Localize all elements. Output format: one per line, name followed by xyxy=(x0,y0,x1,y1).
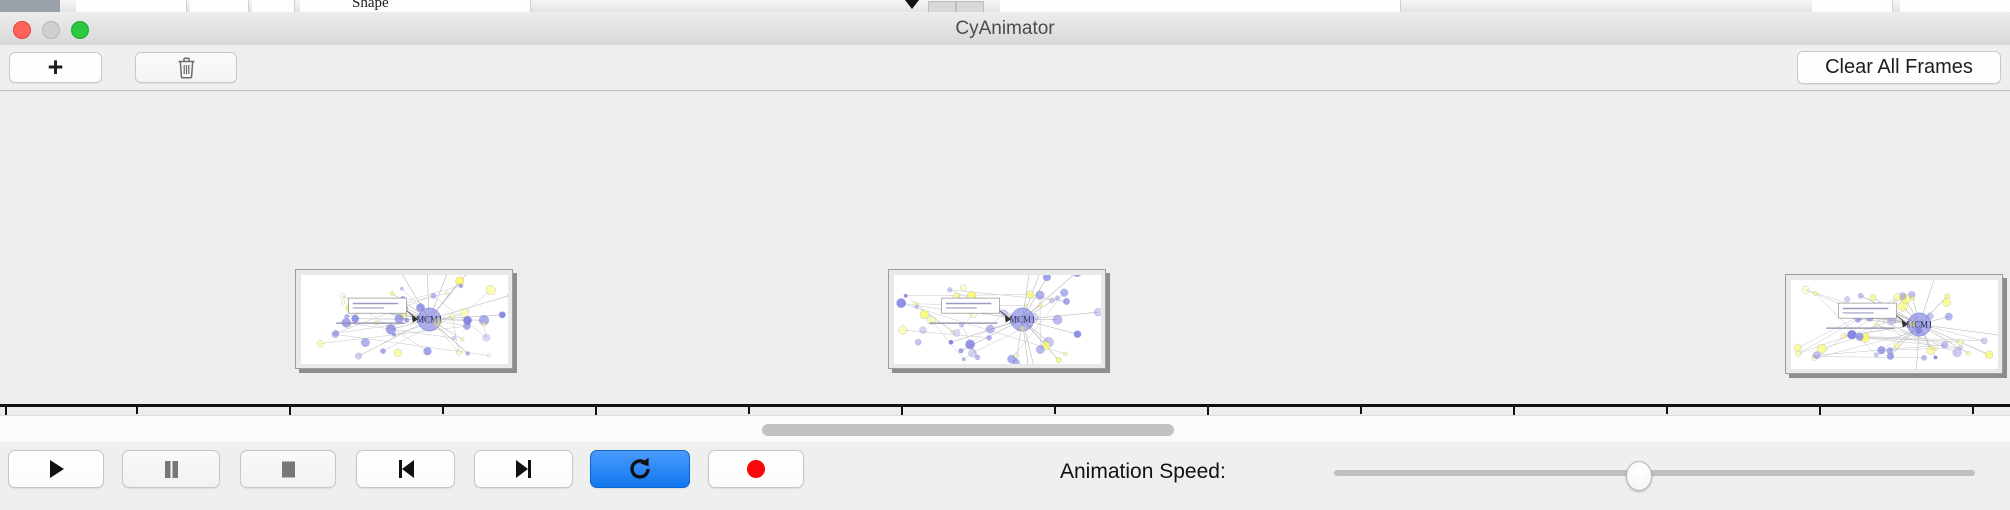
frame-thumbnail-3[interactable]: MCM1 xyxy=(1785,274,2003,374)
stop-icon xyxy=(275,456,301,482)
skip-to-start-button[interactable] xyxy=(356,450,455,488)
background-tile xyxy=(1812,0,1893,12)
timeline-tick-minor xyxy=(442,404,444,414)
clear-all-frames-label: Clear All Frames xyxy=(1825,56,1973,79)
skip-forward-icon xyxy=(511,456,537,482)
timeline-tick-minor xyxy=(748,404,750,414)
background-cursor-arrow-icon xyxy=(905,0,919,9)
record-button[interactable] xyxy=(708,450,804,488)
timeline-tick-minor xyxy=(136,404,138,414)
window-title: CyAnimator xyxy=(0,12,2010,45)
background-window-dark-block xyxy=(0,0,60,12)
background-shape-label: Shape xyxy=(352,0,389,12)
background-tile xyxy=(76,0,187,12)
playback-toolbar: Animation Speed: xyxy=(0,442,2010,510)
frame-preview[interactable]: MCM1 xyxy=(295,269,513,369)
title-bar: CyAnimator xyxy=(0,12,2010,46)
record-icon xyxy=(743,456,769,482)
timeline-scrollbar[interactable] xyxy=(0,415,2010,443)
skip-back-icon xyxy=(393,456,419,482)
frame-thumbnail-2[interactable]: MCM1 xyxy=(888,269,1106,369)
background-tile xyxy=(1000,0,1401,12)
add-frame-button[interactable]: + xyxy=(9,52,102,83)
frame-preview[interactable]: MCM1 xyxy=(888,269,1106,369)
pause-button[interactable] xyxy=(122,450,220,488)
timeline-axis-line xyxy=(0,404,2010,407)
timeline-scrollbar-thumb[interactable] xyxy=(762,424,1174,436)
skip-to-end-button[interactable] xyxy=(474,450,573,488)
loop-icon xyxy=(626,455,654,483)
clear-all-frames-button[interactable]: Clear All Frames xyxy=(1797,51,2001,84)
timeline-panel[interactable]: MCM1 MCM1 MCM1 2131415161718 Second xyxy=(0,91,2010,415)
timeline-tick-minor xyxy=(1972,404,1974,414)
background-tile xyxy=(252,0,295,12)
frame-toolbar: + Clear All Frames xyxy=(0,45,2010,91)
animation-speed-slider-knob[interactable] xyxy=(1626,461,1652,491)
animation-speed-label: Animation Speed: xyxy=(1060,460,1226,484)
play-icon xyxy=(43,456,69,482)
frame-preview[interactable]: MCM1 xyxy=(1785,274,2003,374)
network-graph-icon: MCM1 xyxy=(894,275,1101,364)
loop-button[interactable] xyxy=(590,450,690,488)
network-graph-icon: MCM1 xyxy=(1791,280,1998,369)
animation-speed-slider[interactable] xyxy=(1334,470,1975,476)
pause-icon xyxy=(158,456,184,482)
cyanimator-window: Shape CyAnimator + xyxy=(0,0,2010,510)
background-tile xyxy=(300,0,531,12)
background-tile xyxy=(190,0,249,12)
network-graph-icon: MCM1 xyxy=(301,275,508,364)
background-tile xyxy=(1900,0,2010,12)
timeline-tick-minor xyxy=(1360,404,1362,414)
delete-frame-button[interactable] xyxy=(135,52,237,83)
frame-thumbnail-1[interactable]: MCM1 xyxy=(295,269,513,369)
play-button[interactable] xyxy=(8,450,104,488)
timeline-tick-minor xyxy=(1054,404,1056,414)
trash-icon xyxy=(176,56,197,80)
stop-button[interactable] xyxy=(240,450,336,488)
timeline-tick-minor xyxy=(1666,404,1668,414)
